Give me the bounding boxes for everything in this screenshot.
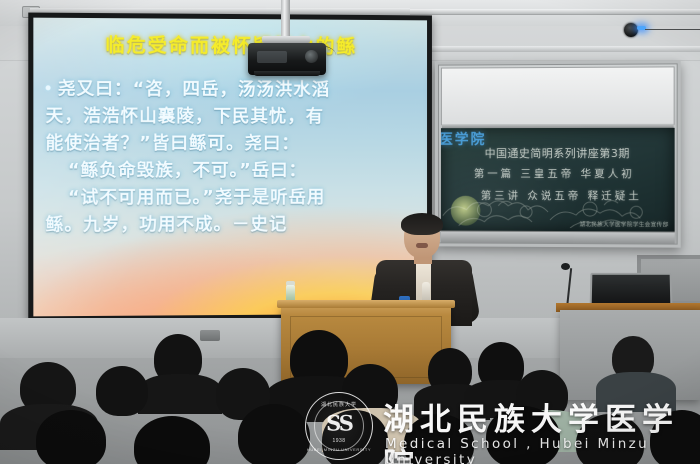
slide-line-5: “试不可用而已。”尧于是听岳用 xyxy=(46,185,418,213)
audience-head xyxy=(238,404,310,464)
slide-title: 临危受命而被怀疑能力的鲧 xyxy=(33,30,427,59)
blackboard-signature: 湖北民族大学医学院学生会宣传部 xyxy=(579,220,668,228)
lecturer-mouth xyxy=(416,243,428,248)
podium-top-edge xyxy=(277,300,455,308)
speaker-wire xyxy=(645,29,700,30)
audience-shoulders xyxy=(138,374,222,414)
slide-line-2: 天，浩浩怀山襄陵，下民其忧，有 xyxy=(46,103,418,131)
projector-vent xyxy=(254,71,320,76)
audience-head xyxy=(96,366,148,416)
seal-arc-top: 湖北民族大学 xyxy=(306,401,372,408)
blackboard-line-3: 第三讲 众说五帝 释迁疑土 xyxy=(441,188,675,204)
audience-head xyxy=(134,416,210,464)
audience-head xyxy=(36,410,106,464)
seal-year: 1938 xyxy=(306,438,372,444)
watermark-english-name: Medical School , Hubei Minzu University xyxy=(385,436,690,464)
blackboard-line-1: 中国通史简明系列讲座第3期 xyxy=(441,145,675,161)
bullet-icon xyxy=(46,85,51,90)
watermark: 湖北民族大学 SS 1938 HUBEI MINZU UNIVERSITY 湖北… xyxy=(305,388,690,460)
blackboard-line-2: 第一篇 三皇五帝 华夏人初 xyxy=(441,166,675,181)
projector-mount-plate xyxy=(262,36,310,43)
slide-body: 尧又曰：“咨，四岳，汤汤洪水滔 天，浩浩怀山襄陵，下民其忧，有 能使治者？”皆曰… xyxy=(46,76,418,239)
ceiling-speaker-icon xyxy=(624,23,638,37)
slide-line-6: 鲧。九岁，功用不成。－史记 xyxy=(46,212,418,240)
projector-mount-pole xyxy=(281,0,290,38)
lecture-hall-photo: 临危受命而被怀疑能力的鲧 尧又曰：“咨，四岳，汤汤洪水滔 天，浩浩怀山襄陵，下民… xyxy=(0,0,700,464)
slide-line-4: “鲧负命毁族，不可。”岳曰： xyxy=(46,158,418,185)
lecturer-hair xyxy=(401,213,443,235)
ceiling-rail-secondary xyxy=(404,46,700,52)
seal-arc-bottom: HUBEI MINZU UNIVERSITY xyxy=(306,447,372,452)
whiteboard-upper-panel xyxy=(441,66,675,125)
ceiling-rail xyxy=(398,9,700,15)
microphone-icon xyxy=(561,263,570,270)
slide-line-3: 能使治者？”皆曰鲧可。尧曰： xyxy=(46,131,418,158)
university-seal-logo: 湖北民族大学 SS 1938 HUBEI MINZU UNIVERSITY xyxy=(305,392,373,460)
seal-monogram: SS xyxy=(326,411,352,436)
slide-line-1: 尧又曰：“咨，四岳，汤汤洪水滔 xyxy=(58,79,330,100)
